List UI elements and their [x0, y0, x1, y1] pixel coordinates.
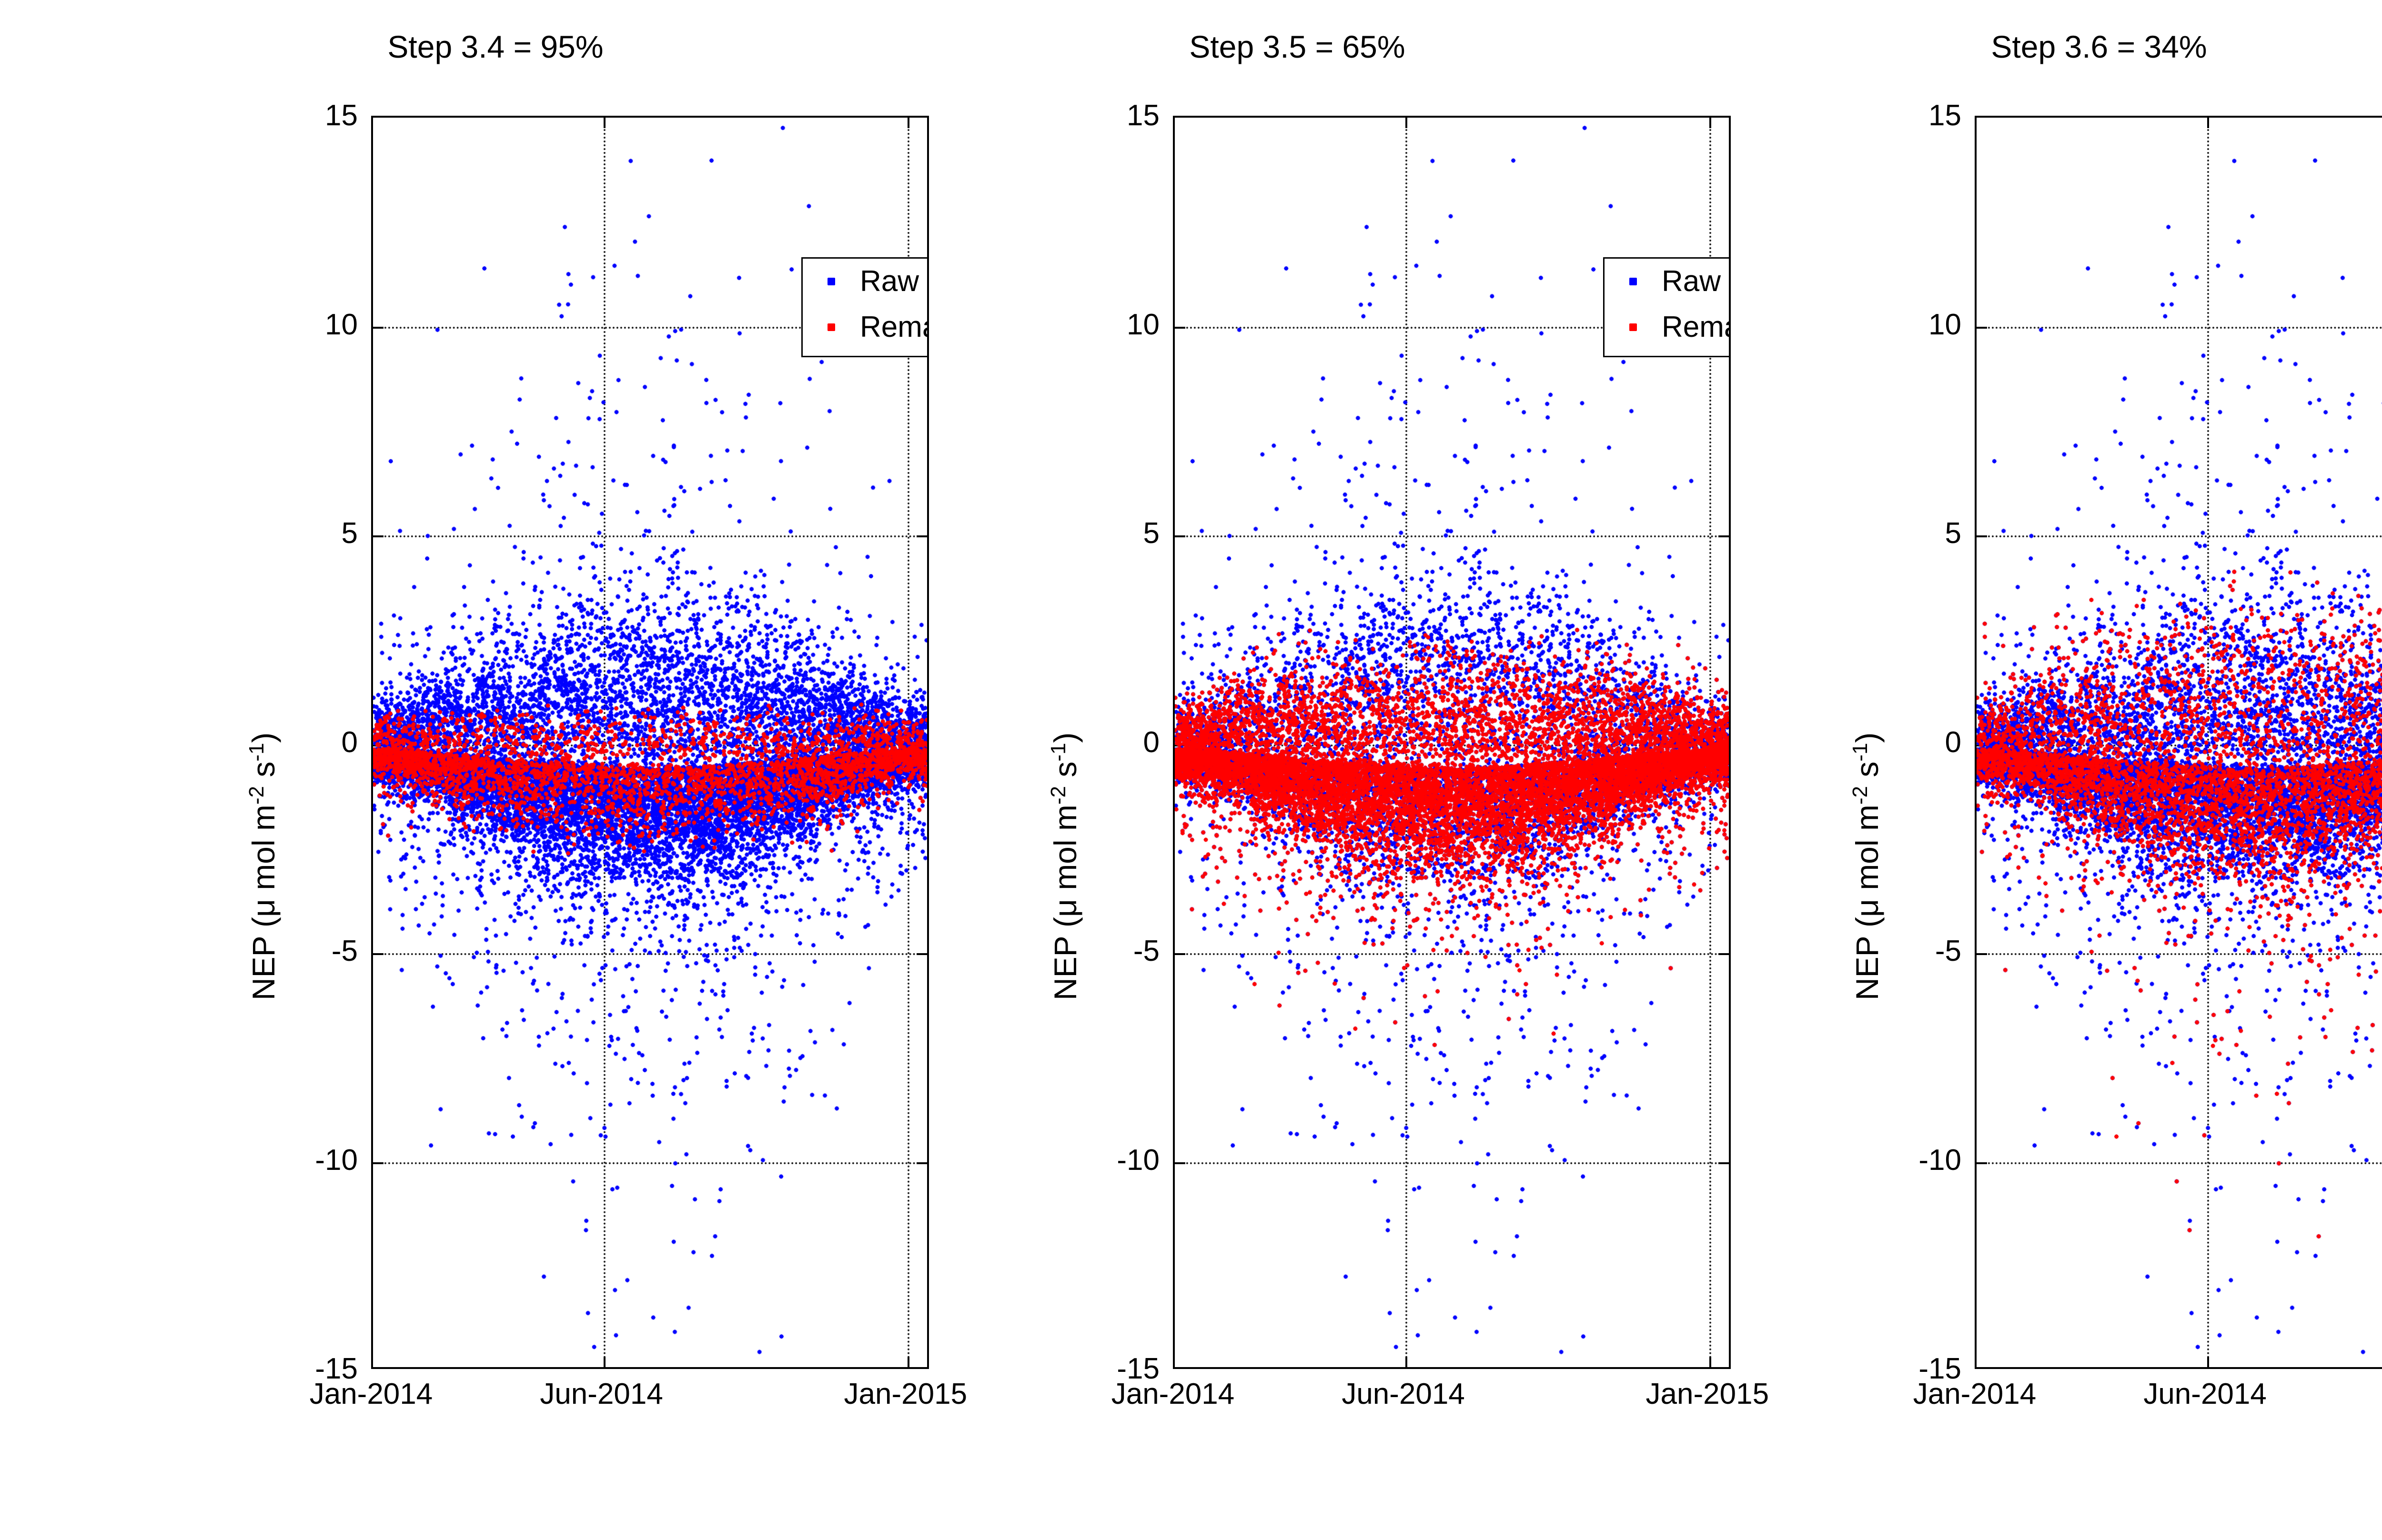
legend-marker-raw-data-icon [1605, 259, 1662, 304]
y-tick-label: 5 [342, 519, 358, 548]
x-tick-label: Jan-2014 [276, 1379, 466, 1409]
legend-label: Raw data [860, 267, 929, 296]
y-axis-label: NEP (μ mol m-2 s-1) [248, 733, 279, 1000]
panel-step-3-4: Step 3.4 = 95% NEP (μ mol m-2 s-1) Raw d… [0, 0, 991, 1540]
legend[interactable]: Raw dataRemaining fluxes [1603, 257, 1731, 357]
y-tick-label: 5 [1945, 519, 1961, 548]
legend[interactable]: Raw dataRemaining fluxes [801, 257, 929, 357]
figure-canvas: Step 3.4 = 95% NEP (μ mol m-2 s-1) Raw d… [0, 0, 2382, 1540]
y-tick-label: -5 [332, 936, 358, 966]
y-axis-label: NEP (μ mol m-2 s-1) [1050, 733, 1081, 1000]
y-axis-label-text: NEP (μ mol m-2 s-1) [246, 733, 281, 1000]
y-tick-label: 0 [1143, 728, 1160, 757]
plot-area: Raw dataRemaining fluxes [1173, 116, 1731, 1369]
x-tick-label: Jun-2014 [1308, 1379, 1499, 1409]
y-axis-label-text: NEP (μ mol m-2 s-1) [1048, 733, 1083, 1000]
x-tick-label: Jan-2014 [1879, 1379, 2070, 1409]
y-tick-label: 0 [1945, 728, 1961, 757]
legend-item[interactable]: Remaining fluxes [1605, 304, 1731, 350]
legend-item[interactable]: Remaining fluxes [803, 304, 929, 350]
y-tick-label: 5 [1143, 519, 1160, 548]
panel-title: Step 3.6 = 34% [1604, 29, 2382, 65]
x-tick-label: Jun-2014 [2110, 1379, 2301, 1409]
y-tick-label: 15 [1928, 101, 1961, 131]
y-axis-label: NEP (μ mol m-2 s-1) [1851, 733, 1883, 1000]
legend-label: Raw data [1662, 267, 1731, 296]
scatter-canvas [1977, 118, 2382, 1367]
y-tick-label: 0 [342, 728, 358, 757]
panel-step-3-5: Step 3.5 = 65% NEP (μ mol m-2 s-1) Raw d… [802, 0, 1793, 1540]
legend-label: Remaining fluxes [860, 312, 929, 342]
y-tick-label: 10 [325, 310, 358, 340]
y-tick-label: 15 [325, 101, 358, 131]
y-tick-label: -5 [1133, 936, 1160, 966]
y-tick-label: -10 [315, 1146, 358, 1175]
y-tick-label: 10 [1928, 310, 1961, 340]
y-tick-label: -5 [1935, 936, 1961, 966]
y-tick-label: 10 [1127, 310, 1160, 340]
y-tick-label: 15 [1127, 101, 1160, 131]
legend-marker-remaining-fluxes-icon [1605, 304, 1662, 350]
legend-item[interactable]: Raw data [803, 259, 929, 304]
legend-marker-raw-data-icon [803, 259, 860, 304]
y-tick-label: -10 [1918, 1146, 1961, 1175]
plot-area: Raw dataRemaining fluxes [1975, 116, 2382, 1369]
x-tick-label: Jun-2014 [506, 1379, 697, 1409]
legend-label: Remaining fluxes [1662, 312, 1731, 342]
legend-item[interactable]: Raw data [1605, 259, 1731, 304]
legend-marker-remaining-fluxes-icon [803, 304, 860, 350]
y-tick-label: -10 [1117, 1146, 1160, 1175]
y-axis-label-text: NEP (μ mol m-2 s-1) [1849, 733, 1885, 1000]
x-tick-label: Jan-2014 [1078, 1379, 1268, 1409]
plot-area: Raw dataRemaining fluxes [371, 116, 929, 1369]
